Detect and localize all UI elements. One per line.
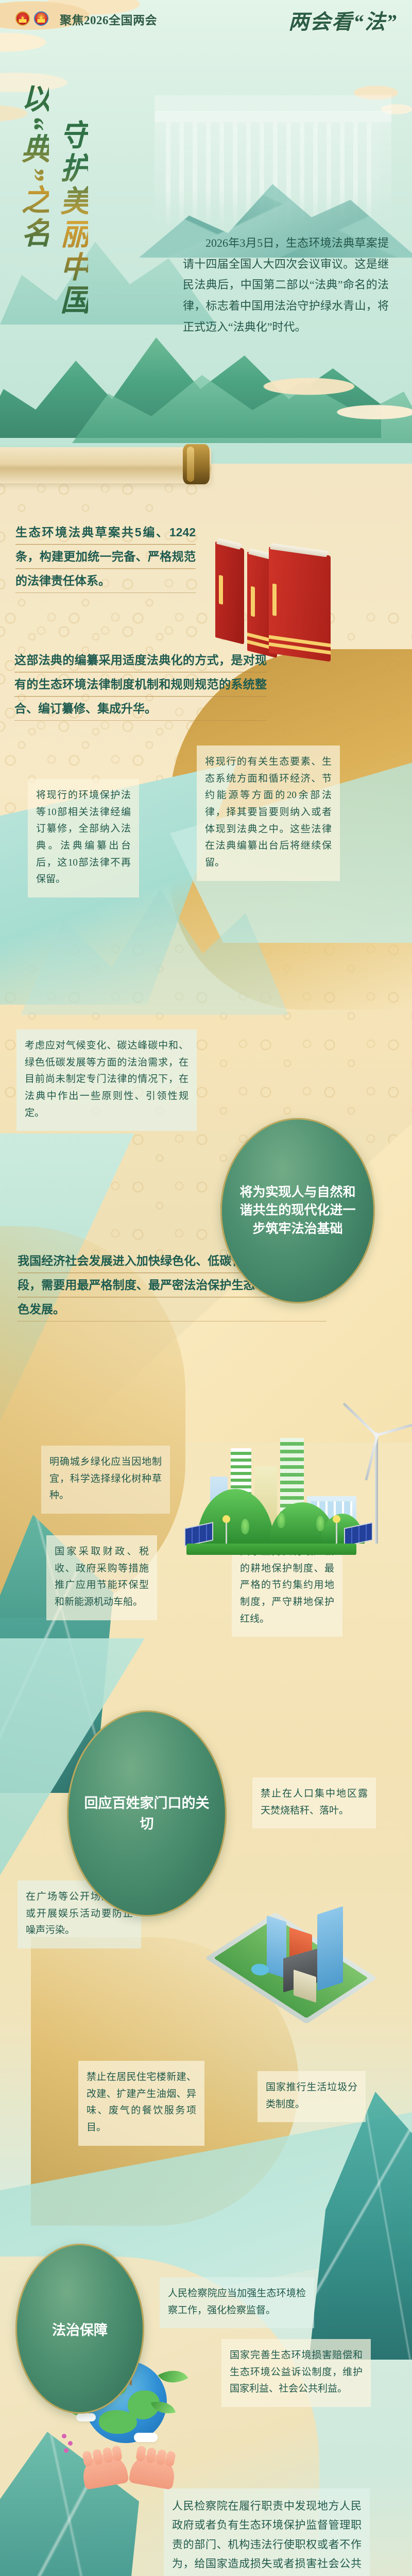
economy-card-2: 国家采取财政、税收、政府采购等措施推广应用节能环保型和新能源机动车船。 bbox=[46, 1535, 157, 1620]
eco-streetlamp-1 bbox=[226, 1520, 227, 1544]
page-title: 以“典”之名 守护美丽中国 bbox=[18, 82, 278, 317]
berry-sprig bbox=[62, 2430, 84, 2455]
brand-logo-text: 两会看“法” bbox=[288, 5, 398, 35]
method-card-2: 将现行的有关生态要素、生态系统方面和循环经济、节约能源等方面的20余部法律，择其… bbox=[197, 745, 340, 881]
finger-2 bbox=[146, 2447, 157, 2464]
eco-tree-1 bbox=[241, 1519, 249, 1534]
right-palm bbox=[128, 2451, 177, 2490]
book-pages bbox=[216, 538, 243, 550]
book-pages bbox=[270, 543, 329, 557]
finger-4 bbox=[111, 2445, 123, 2462]
green-city-illustration bbox=[181, 1400, 387, 1555]
berry-1 bbox=[62, 2434, 66, 2438]
guarantee-card-3: 人民检察院在履行职责中发现地方人民政府或者负有生态环境保护监督管理职责的部门、机… bbox=[164, 2488, 370, 2576]
people-card-4: 国家推行生活垃圾分类制度。 bbox=[257, 2071, 366, 2122]
teal-mountain-right bbox=[309, 2092, 412, 2360]
book-stripe bbox=[219, 575, 223, 605]
iso-tower-blue-2 bbox=[317, 1906, 343, 1991]
hands-icon bbox=[82, 2445, 175, 2486]
scroll-statement: 生态环境法典草案共5编、1242条，构建更加统一完备、严格规范的法律责任体系。 bbox=[15, 520, 196, 593]
guarantee-card-1: 人民检察院应当加强生态环境检察工作，强化检察监督。 bbox=[160, 2277, 314, 2328]
page-header: ★ ★ 聚焦2026全国两会 两会看“法” bbox=[0, 0, 412, 36]
cloud-3 bbox=[134, 2433, 158, 2442]
people-card-3: 禁止在居民住宅楼新建、改建、扩建产生油烟、异味、废气的餐饮服务项目。 bbox=[78, 2061, 204, 2146]
scroll-rod-cap bbox=[183, 444, 210, 484]
infographic-poster: ★ ★ 聚焦2026全国两会 两会看“法” 以“典”之名 守护美丽中国 2026… bbox=[0, 0, 412, 2576]
eco-tree-3 bbox=[316, 1516, 324, 1531]
book-stripe bbox=[251, 586, 255, 617]
people-card-1: 禁止在人口集中地区露天焚烧秸秆、落叶。 bbox=[252, 1777, 376, 1828]
callout-modernization-label: 将为实现人与自然和谐共生的现代化进一步筑牢法治基础 bbox=[220, 1183, 375, 1239]
title-line-2: 守护美丽中国 bbox=[56, 120, 88, 317]
eco-tree-2 bbox=[277, 1513, 285, 1528]
finger-1 bbox=[135, 2445, 147, 2462]
wind-turbine-icon bbox=[375, 1435, 378, 1544]
finger-4 bbox=[165, 2450, 176, 2467]
method-card-1: 将现行的环境保护法等10部相关法律经编订纂修，全部纳入法典。法典编纂出台后，这1… bbox=[28, 779, 139, 897]
title-line-1: 以“典”之名 bbox=[18, 82, 49, 317]
finger-2 bbox=[92, 2449, 104, 2465]
callout-legal-guarantee: 法治保障 bbox=[15, 2244, 144, 2414]
callout-people-label: 回应百姓家门口的关切 bbox=[67, 1793, 227, 1835]
emblem-group: ★ ★ bbox=[15, 11, 48, 26]
header-title: 聚焦2026全国两会 bbox=[60, 10, 157, 28]
mountain-green-back bbox=[72, 340, 412, 443]
finger-1 bbox=[82, 2450, 93, 2467]
national-emblem-icon: ★ bbox=[15, 11, 30, 26]
cream-wave-decor bbox=[247, 361, 412, 438]
economy-card-1: 明确城乡绿化应当因地制宜，科学选择绿化树种草种。 bbox=[41, 1446, 170, 1514]
turbine-blade-3 bbox=[375, 1421, 412, 1436]
cloud-right-decor bbox=[319, 72, 412, 134]
left-palm bbox=[80, 2451, 129, 2490]
globe-landmass-3 bbox=[99, 2410, 137, 2434]
method-card-3: 考虑应对气候变化、碳达峰碳中和、绿色低碳发展等方面的法治需求，在目前尚未制定专门… bbox=[16, 1029, 197, 1131]
callout-modernization: 将为实现人与自然和谐共生的现代化进一步筑牢法治基础 bbox=[220, 1118, 375, 1303]
guarantee-card-2: 国家完善生态环境损害赔偿和生态环境公益诉讼制度，维护国家利益、社会公共利益。 bbox=[221, 2339, 371, 2407]
book-stripe bbox=[272, 584, 277, 616]
eco-streetlamp-2 bbox=[336, 1520, 337, 1544]
isometric-city-illustration bbox=[221, 1896, 376, 2035]
cloud-2 bbox=[76, 2413, 96, 2421]
berry-2 bbox=[68, 2441, 73, 2446]
turbine-blade-2 bbox=[342, 1402, 379, 1437]
red-law-books-icon bbox=[215, 527, 334, 660]
turbine-blade-1 bbox=[365, 1434, 379, 1481]
callout-legal-guarantee-label: 法治保障 bbox=[39, 2319, 121, 2339]
cppcc-emblem-icon: ★ bbox=[34, 11, 48, 26]
book-3 bbox=[269, 547, 331, 662]
tiananmen-glyph bbox=[19, 19, 27, 23]
berry-3 bbox=[64, 2448, 68, 2453]
scroll-rod bbox=[0, 447, 211, 483]
tiananmen-glyph-cppcc bbox=[38, 19, 45, 23]
callout-people-concerns: 回应百姓家门口的关切 bbox=[67, 1710, 227, 1917]
eco-ground bbox=[186, 1544, 356, 1555]
turbine-hub bbox=[374, 1432, 379, 1437]
book-1 bbox=[215, 541, 244, 645]
